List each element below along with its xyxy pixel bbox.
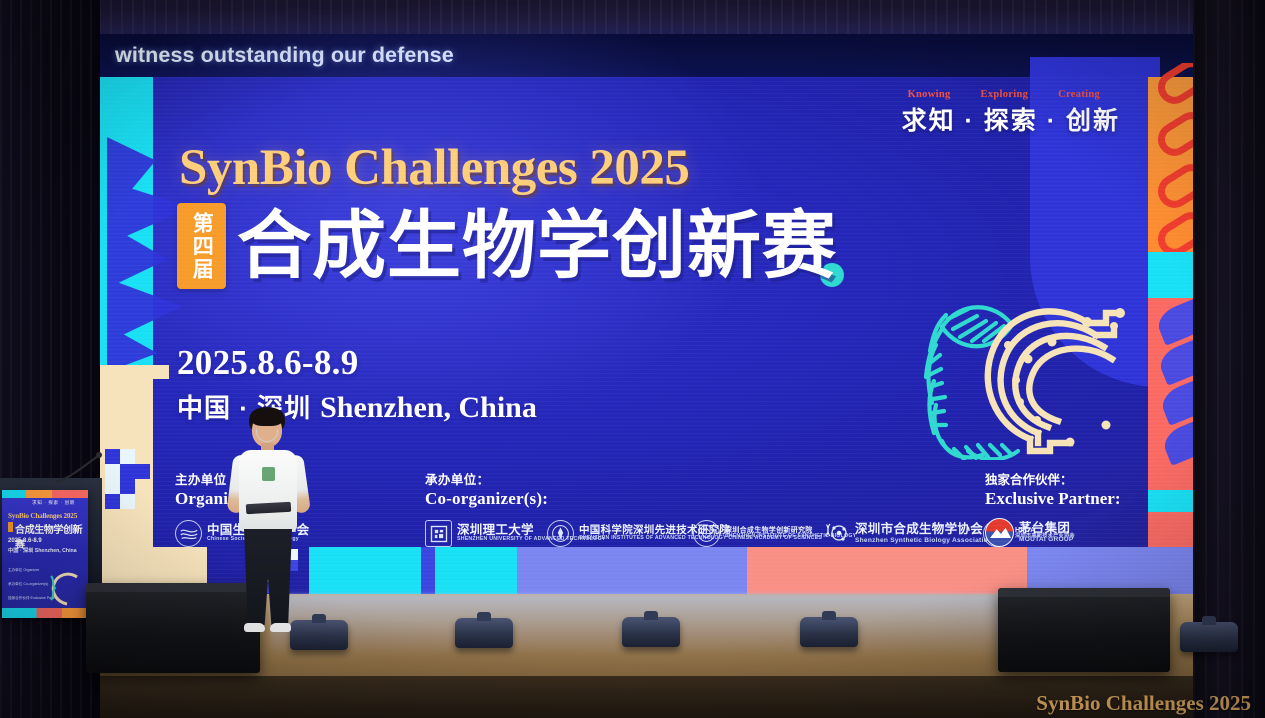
poster-bottom-strip (2, 608, 88, 618)
tagline-block: Knowing Exploring Creating 求知 · 探索 · 创新 (902, 89, 1120, 137)
logo-text: 深圳市合成生物学协会 Shenzhen Synthetic Biology As… (855, 523, 992, 544)
dna-molecule-icon (824, 521, 850, 547)
logo-mark-icon (823, 520, 850, 547)
co-organizer-label-cn: 承办单位： (425, 469, 548, 488)
dna-circuit-c-logo (920, 285, 1125, 460)
poster-tagline: 求知 · 探索 · 创新 (32, 500, 75, 506)
tagline-en-creating: Creating (1058, 89, 1100, 100)
hair (250, 407, 284, 426)
stage-wedge-monitor (622, 617, 680, 647)
shoe (270, 623, 291, 632)
emblem-icon (550, 523, 571, 544)
wave-icon (178, 523, 200, 545)
stage-wedge-monitor (800, 617, 858, 647)
poster-dna-circuit-c-logo (44, 568, 84, 608)
poster-sponsor-row: 主办单位 Organizer (8, 568, 39, 573)
poster-top-strip (2, 490, 88, 498)
exclusive-partner-section: 独家合作伙伴： Exclusive Partner: 茅台集团 MOUTAI G… (985, 469, 1121, 547)
logo-mark-icon (175, 520, 202, 547)
edition-badge: 第四届 (177, 203, 226, 289)
co-organizer-label-en: Co-organizer(s): (425, 489, 548, 509)
event-poster-standee: 求知 · 探索 · 创新 SynBio Challenges 2025 合成生物… (2, 490, 88, 618)
logo-text: 茅台集团 MOUTAI GROUP (1019, 522, 1074, 543)
logo-moutai-group: 茅台集团 MOUTAI GROUP (985, 518, 1121, 547)
logo-name-en: Shenzhen Synthetic Biology Association (855, 537, 992, 544)
shoe (244, 623, 265, 632)
poster-date: 2025.8.6-8.9 (8, 538, 42, 544)
logo-mark-icon (693, 520, 720, 547)
poster-edition-badge (8, 522, 13, 532)
stage-wedge-monitor (455, 618, 513, 648)
poster-title-en: SynBio Challenges 2025 (8, 512, 77, 520)
photo-watermark: SynBio Challenges 2025 (1036, 691, 1251, 716)
logo-name-cn: 茅台集团 (1019, 522, 1074, 536)
poster-place: 中国 · 深圳 Shenzhen, China (8, 547, 77, 554)
partner-label-cn: 独家合作伙伴： (985, 469, 1121, 488)
logo-mark-icon (425, 520, 452, 547)
lectern-microphone (54, 452, 102, 484)
logo-name-cn: 深圳市合成生物学协会 (855, 523, 992, 537)
conference-stage-photo: witness outstanding our defense (0, 0, 1265, 718)
tagline-en-knowing: Knowing (908, 89, 951, 100)
logo-name-en: MOUTAI GROUP (1019, 536, 1074, 543)
edition-badge-text: 第四届 (191, 212, 212, 281)
location-english: Shenzhen, China (320, 391, 537, 425)
stage-floor-reflection (270, 594, 1090, 656)
dark-trousers (244, 529, 292, 625)
right-curtain (1193, 0, 1265, 718)
header-banner-text: witness outstanding our defense (95, 43, 454, 68)
seal-icon (429, 524, 449, 544)
co-organizer-heading: 承办单位： Co-organizer(s): (425, 469, 548, 509)
tagline-en-exploring: Exploring (981, 89, 1029, 100)
speaker-top-panel (998, 588, 1170, 597)
tagline-english-row: Knowing Exploring Creating (902, 89, 1120, 100)
presenter-speaker (225, 405, 311, 647)
partner-label-en: Exclusive Partner: (985, 489, 1121, 509)
event-title-row: 第四届 合成生物学创新赛 (177, 203, 837, 289)
white-tshirt (239, 450, 297, 532)
logo-mark-icon (547, 520, 574, 547)
event-title-english: SynBio Challenges 2025 (179, 139, 689, 197)
event-date: 2025.8.6-8.9 (177, 343, 359, 383)
event-title-chinese: 合成生物学创新赛 (237, 209, 837, 283)
emblem-icon (696, 523, 717, 544)
tshirt-logo (262, 467, 275, 481)
logo-shenzhen-synthetic-biology-association: 深圳市合成生物学协会 Shenzhen Synthetic Biology As… (823, 520, 992, 547)
tagline-chinese: 求知 · 探索 · 创新 (902, 101, 1120, 137)
moutai-mountain-icon (985, 518, 1014, 547)
stage-wedge-monitor (1180, 622, 1238, 652)
stage-speaker-right (998, 588, 1170, 672)
poster-sponsor-row: 承办单位 Co-organizer(s) (8, 582, 48, 587)
